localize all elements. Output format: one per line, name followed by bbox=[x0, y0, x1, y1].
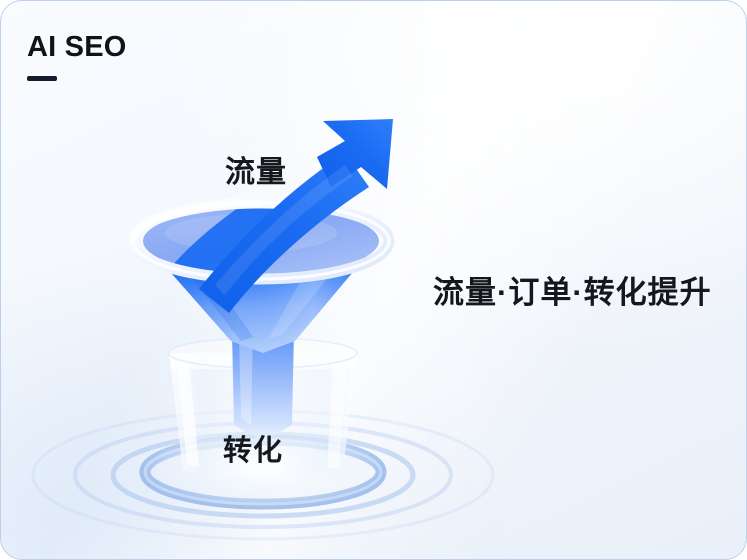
title-underline-rule bbox=[27, 76, 57, 81]
brand-block: AI SEO bbox=[27, 33, 127, 81]
label-conversion: 转化 bbox=[223, 437, 283, 466]
label-traffic: 流量 bbox=[225, 158, 287, 188]
headline-text: 流量·订单·转化提升 bbox=[433, 277, 712, 308]
poster-canvas: AI SEO 流量·订单·转化提升 流量 转化 bbox=[0, 0, 747, 560]
page-title: AI SEO bbox=[27, 33, 127, 62]
